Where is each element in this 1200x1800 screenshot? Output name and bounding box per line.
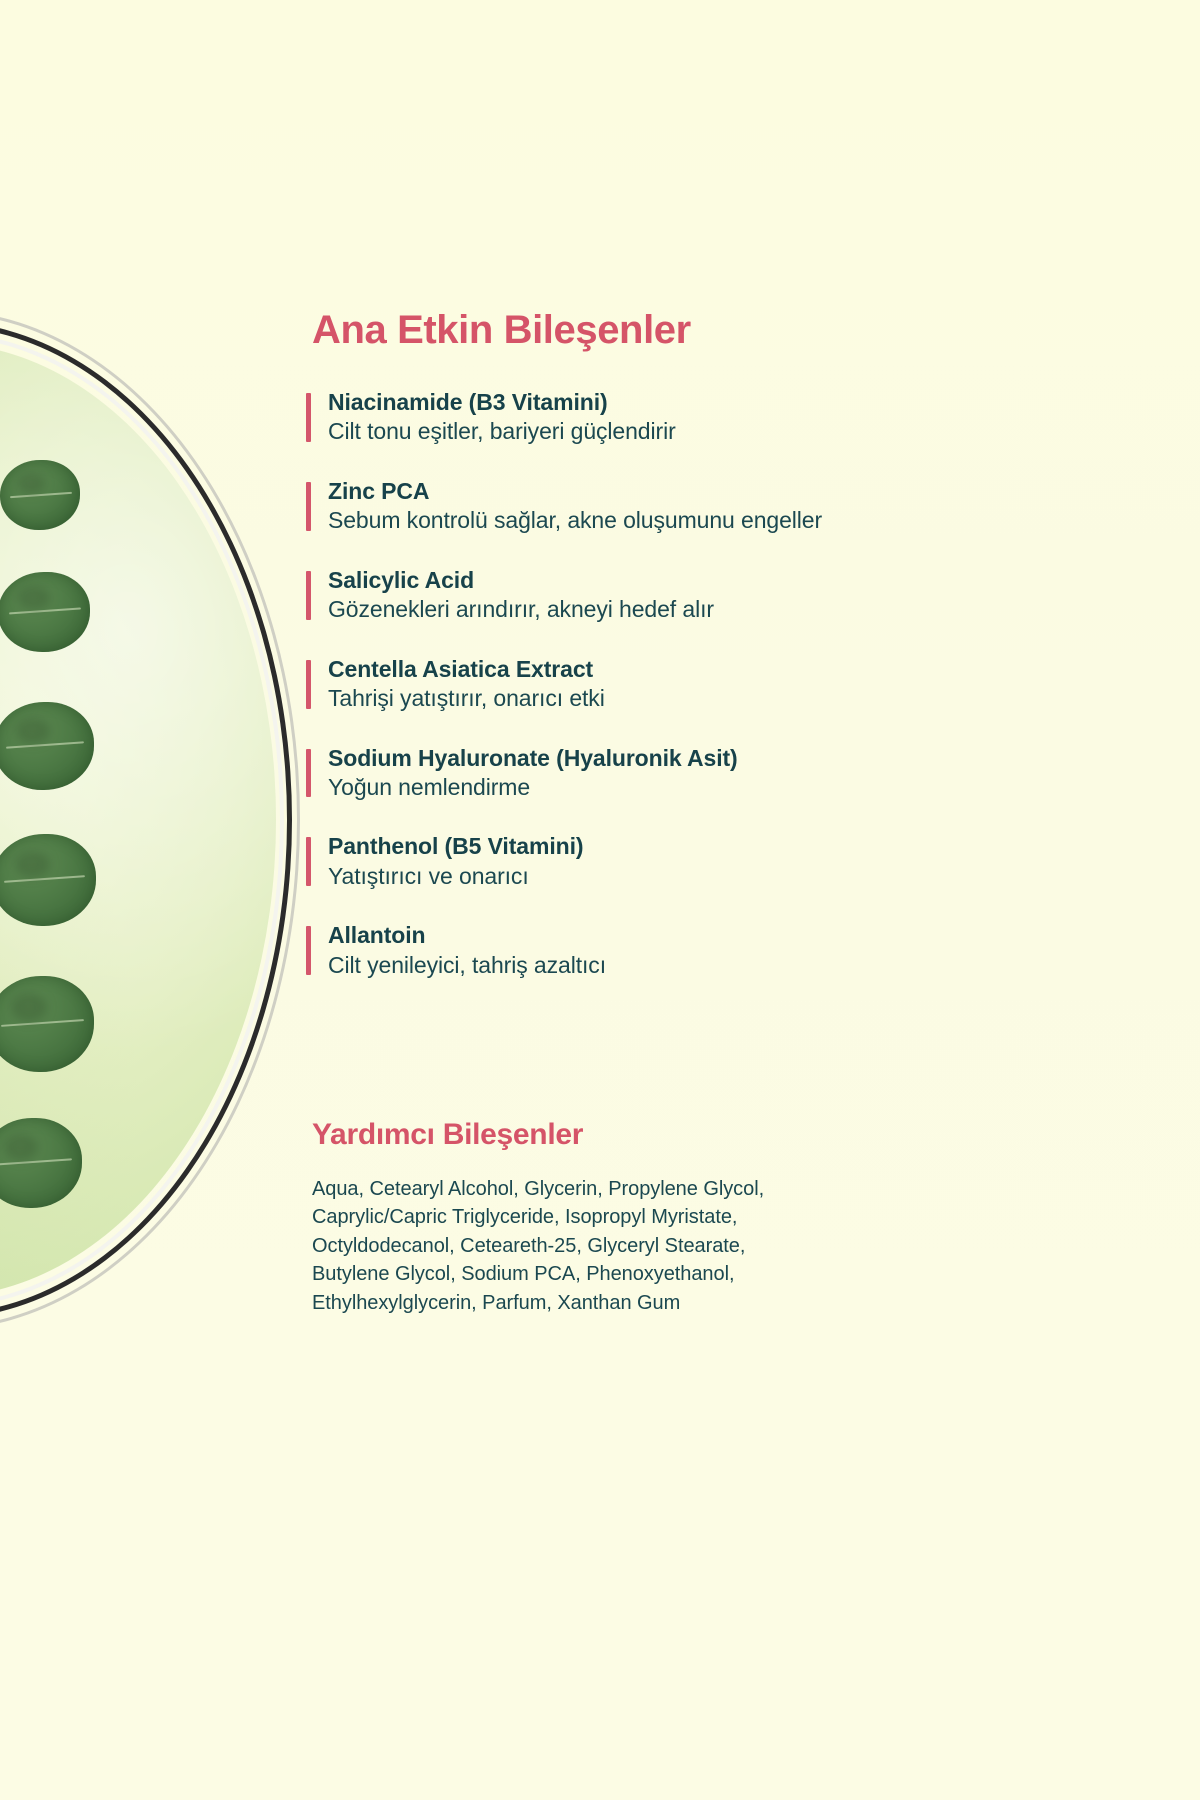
product-ingredients-page: Ana Etkin Bileşenler Niacinamide (B3 Vit…: [0, 0, 1200, 1800]
ingredient-description: Yoğun nemlendirme: [328, 773, 1186, 802]
accent-bar: [306, 482, 311, 531]
accent-bar: [306, 837, 311, 886]
petri-dish: [0, 310, 300, 1330]
accent-bar: [306, 660, 311, 709]
ingredient-item: Salicylic Acid Gözenekleri arındırır, ak…: [306, 566, 1186, 625]
ingredient-item: Niacinamide (B3 Vitamini) Cilt tonu eşit…: [306, 388, 1186, 447]
accent-bar: [306, 749, 311, 798]
ingredient-description: Yatıştırıcı ve onarıcı: [328, 862, 1186, 891]
ingredient-name: Allantoin: [328, 921, 1186, 950]
ingredient-item: Sodium Hyaluronate (Hyaluronik Asit) Yoğ…: [306, 744, 1186, 803]
auxiliary-line: Octyldodecanol, Ceteareth-25, Glyceryl S…: [312, 1232, 932, 1260]
auxiliary-line: Aqua, Cetearyl Alcohol, Glycerin, Propyl…: [312, 1175, 932, 1203]
ingredient-item: Allantoin Cilt yenileyici, tahriş azaltı…: [306, 921, 1186, 980]
ingredient-item: Zinc PCA Sebum kontrolü sağlar, akne olu…: [306, 477, 1186, 536]
auxiliary-line: Ethylhexylglycerin, Parfum, Xanthan Gum: [312, 1289, 932, 1317]
auxiliary-line: Caprylic/Capric Triglyceride, Isopropyl …: [312, 1203, 932, 1231]
eucalyptus-leaf: [0, 572, 90, 652]
ingredient-description: Sebum kontrolü sağlar, akne oluşumunu en…: [328, 506, 1186, 535]
auxiliary-ingredients-list: Aqua, Cetearyl Alcohol, Glycerin, Propyl…: [312, 1175, 932, 1317]
ingredients-content: Ana Etkin Bileşenler Niacinamide (B3 Vit…: [306, 0, 1186, 1800]
ingredient-name: Niacinamide (B3 Vitamini): [328, 388, 1186, 417]
ingredient-name: Salicylic Acid: [328, 566, 1186, 595]
ingredient-name: Sodium Hyaluronate (Hyaluronik Asit): [328, 744, 1186, 773]
accent-bar: [306, 393, 311, 442]
accent-bar: [306, 926, 311, 975]
auxiliary-line: Butylene Glycol, Sodium PCA, Phenoxyetha…: [312, 1260, 932, 1288]
auxiliary-ingredients-heading: Yardımcı Bileşenler: [312, 1118, 583, 1152]
ingredient-description: Cilt yenileyici, tahriş azaltıcı: [328, 951, 1186, 980]
main-ingredients-heading: Ana Etkin Bileşenler: [312, 308, 691, 353]
ingredient-description: Cilt tonu eşitler, bariyeri güçlendirir: [328, 417, 1186, 446]
ingredient-item: Panthenol (B5 Vitamini) Yatıştırıcı ve o…: [306, 832, 1186, 891]
eucalyptus-leaf: [0, 460, 80, 530]
ingredient-item: Centella Asiatica Extract Tahrişi yatışt…: [306, 655, 1186, 714]
ingredient-description: Gözenekleri arındırır, akneyi hedef alır: [328, 595, 1186, 624]
ingredient-name: Zinc PCA: [328, 477, 1186, 506]
main-ingredients-list: Niacinamide (B3 Vitamini) Cilt tonu eşit…: [306, 388, 1186, 1010]
ingredient-name: Panthenol (B5 Vitamini): [328, 832, 1186, 861]
ingredient-name: Centella Asiatica Extract: [328, 655, 1186, 684]
accent-bar: [306, 571, 311, 620]
ingredient-description: Tahrişi yatıştırır, onarıcı etki: [328, 684, 1186, 713]
petri-dish-photo: [0, 0, 300, 1800]
